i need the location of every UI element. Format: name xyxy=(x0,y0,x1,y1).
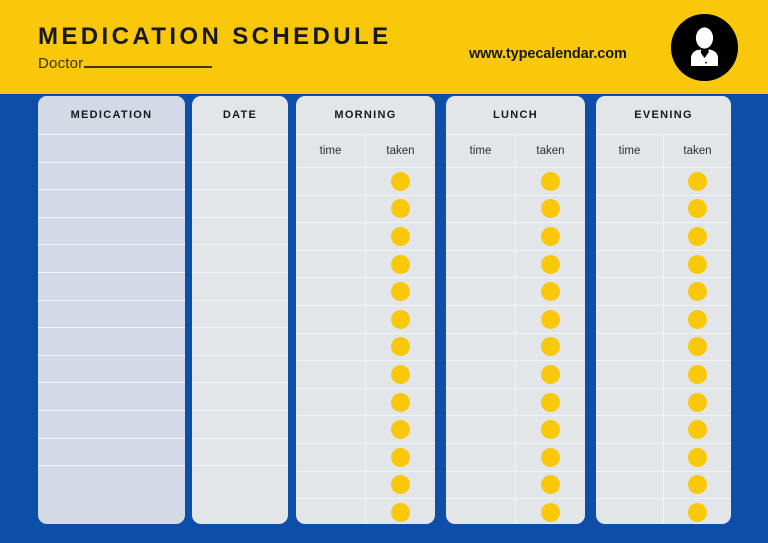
table-row[interactable] xyxy=(192,217,288,245)
column-header-morning: MORNING xyxy=(296,96,435,134)
column-header-date: DATE xyxy=(192,96,288,134)
taken-dot-icon[interactable] xyxy=(391,475,410,494)
morning-taken-cell[interactable] xyxy=(365,278,435,305)
table-row[interactable] xyxy=(596,195,731,223)
taken-dot-icon[interactable] xyxy=(391,365,410,384)
table-row[interactable] xyxy=(446,250,585,278)
medication-cell[interactable] xyxy=(38,411,185,438)
table-row[interactable] xyxy=(596,167,731,195)
medication-cell[interactable] xyxy=(38,135,185,162)
taken-dot-icon[interactable] xyxy=(688,227,707,246)
lunch-taken-cell[interactable] xyxy=(515,251,585,278)
lunch-time-cell[interactable] xyxy=(446,278,515,305)
table-row[interactable] xyxy=(296,167,435,195)
table-row[interactable] xyxy=(192,438,288,466)
column-morning: MORNING time taken xyxy=(296,96,435,524)
table-row[interactable] xyxy=(38,189,185,217)
evening-time-cell[interactable] xyxy=(596,416,663,443)
morning-taken-cell[interactable] xyxy=(365,499,435,524)
date-cell[interactable] xyxy=(192,273,288,300)
subheader-evening: time taken xyxy=(596,134,731,167)
morning-taken-cell[interactable] xyxy=(365,306,435,333)
taken-dot-icon[interactable] xyxy=(541,448,560,467)
evening-time-cell[interactable] xyxy=(596,306,663,333)
table-row[interactable] xyxy=(296,388,435,416)
evening-time-cell[interactable] xyxy=(596,499,663,524)
table-row[interactable] xyxy=(446,360,585,388)
morning-time-cell[interactable] xyxy=(296,251,365,278)
taken-dot-icon[interactable] xyxy=(688,448,707,467)
evening-taken-cell[interactable] xyxy=(663,196,731,223)
table-row[interactable] xyxy=(596,277,731,305)
page-title: MEDICATION SCHEDULE xyxy=(38,24,392,49)
table-row[interactable] xyxy=(192,162,288,190)
lunch-taken-cell[interactable] xyxy=(515,416,585,443)
evening-time-cell[interactable] xyxy=(596,168,663,195)
table-row[interactable] xyxy=(192,327,288,355)
evening-taken-cell[interactable] xyxy=(663,278,731,305)
lunch-rows xyxy=(446,167,585,524)
morning-taken-cell[interactable] xyxy=(365,251,435,278)
table-row[interactable] xyxy=(192,355,288,383)
table-row[interactable] xyxy=(38,244,185,272)
morning-taken-cell[interactable] xyxy=(365,334,435,361)
morning-time-cell[interactable] xyxy=(296,278,365,305)
subheader-morning-time: time xyxy=(296,135,365,167)
medication-cell[interactable] xyxy=(38,356,185,383)
table-row[interactable] xyxy=(296,277,435,305)
taken-dot-icon[interactable] xyxy=(391,172,410,191)
lunch-time-cell[interactable] xyxy=(446,196,515,223)
column-evening: EVENING time taken xyxy=(596,96,731,524)
medication-schedule-page: MEDICATION SCHEDULE Doctor www.typecalen… xyxy=(0,0,768,543)
taken-dot-icon[interactable] xyxy=(541,199,560,218)
table-row[interactable] xyxy=(38,355,185,383)
medication-cell[interactable] xyxy=(38,163,185,190)
taken-dot-icon[interactable] xyxy=(391,227,410,246)
title-block: MEDICATION SCHEDULE Doctor xyxy=(38,24,392,72)
lunch-taken-cell[interactable] xyxy=(515,223,585,250)
morning-time-cell[interactable] xyxy=(296,389,365,416)
morning-taken-cell[interactable] xyxy=(365,223,435,250)
evening-taken-cell[interactable] xyxy=(663,444,731,471)
taken-dot-icon[interactable] xyxy=(541,420,560,439)
taken-dot-icon[interactable] xyxy=(391,255,410,274)
table-row[interactable] xyxy=(192,382,288,410)
evening-time-cell[interactable] xyxy=(596,472,663,499)
subheader-lunch: time taken xyxy=(446,134,585,167)
evening-time-cell[interactable] xyxy=(596,444,663,471)
table-row[interactable] xyxy=(446,195,585,223)
taken-dot-icon[interactable] xyxy=(541,282,560,301)
lunch-time-cell[interactable] xyxy=(446,251,515,278)
medication-rows xyxy=(38,134,185,493)
table-row[interactable] xyxy=(38,217,185,245)
morning-taken-cell[interactable] xyxy=(365,168,435,195)
medication-cell[interactable] xyxy=(38,383,185,410)
table-row[interactable] xyxy=(446,415,585,443)
table-row[interactable] xyxy=(192,134,288,162)
table-row[interactable] xyxy=(38,382,185,410)
date-cell[interactable] xyxy=(192,135,288,162)
lunch-taken-cell[interactable] xyxy=(515,499,585,524)
morning-time-cell[interactable] xyxy=(296,499,365,524)
lunch-time-cell[interactable] xyxy=(446,444,515,471)
evening-taken-cell[interactable] xyxy=(663,334,731,361)
morning-time-cell[interactable] xyxy=(296,168,365,195)
table-row[interactable] xyxy=(446,471,585,499)
column-header-lunch: LUNCH xyxy=(446,96,585,134)
evening-time-cell[interactable] xyxy=(596,278,663,305)
taken-dot-icon[interactable] xyxy=(541,365,560,384)
morning-time-cell[interactable] xyxy=(296,306,365,333)
table-row[interactable] xyxy=(38,438,185,466)
doctor-field[interactable]: Doctor xyxy=(38,55,392,72)
table-row[interactable] xyxy=(596,471,731,499)
table-row[interactable] xyxy=(296,443,435,471)
evening-time-cell[interactable] xyxy=(596,361,663,388)
table-row[interactable] xyxy=(596,250,731,278)
table-row[interactable] xyxy=(38,272,185,300)
lunch-time-cell[interactable] xyxy=(446,416,515,443)
table-row[interactable] xyxy=(38,410,185,438)
medication-cell[interactable] xyxy=(38,245,185,272)
evening-taken-cell[interactable] xyxy=(663,223,731,250)
doctor-label: Doctor xyxy=(38,55,83,72)
date-cell[interactable] xyxy=(192,218,288,245)
taken-dot-icon[interactable] xyxy=(541,475,560,494)
taken-dot-icon[interactable] xyxy=(541,503,560,522)
table-row[interactable] xyxy=(38,134,185,162)
lunch-taken-cell[interactable] xyxy=(515,334,585,361)
table-row[interactable] xyxy=(596,498,731,524)
taken-dot-icon[interactable] xyxy=(688,310,707,329)
taken-dot-icon[interactable] xyxy=(688,393,707,412)
taken-dot-icon[interactable] xyxy=(391,337,410,356)
table-row[interactable] xyxy=(446,305,585,333)
evening-taken-cell[interactable] xyxy=(663,361,731,388)
table-row[interactable] xyxy=(596,305,731,333)
lunch-time-cell[interactable] xyxy=(446,306,515,333)
subheader-lunch-taken: taken xyxy=(515,135,585,167)
lunch-time-cell[interactable] xyxy=(446,168,515,195)
doctor-avatar-icon xyxy=(671,14,738,81)
table-row[interactable] xyxy=(192,272,288,300)
table-row[interactable] xyxy=(596,360,731,388)
morning-taken-cell[interactable] xyxy=(365,472,435,499)
evening-taken-cell[interactable] xyxy=(663,472,731,499)
column-header-medication: MEDICATION xyxy=(38,96,185,134)
table-row[interactable] xyxy=(296,250,435,278)
taken-dot-icon[interactable] xyxy=(688,503,707,522)
morning-rows xyxy=(296,167,435,524)
morning-time-cell[interactable] xyxy=(296,444,365,471)
morning-time-cell[interactable] xyxy=(296,361,365,388)
taken-dot-icon[interactable] xyxy=(688,282,707,301)
column-lunch: LUNCH time taken xyxy=(446,96,585,524)
lunch-taken-cell[interactable] xyxy=(515,306,585,333)
taken-dot-icon[interactable] xyxy=(391,448,410,467)
table-row[interactable] xyxy=(596,333,731,361)
table-row[interactable] xyxy=(296,222,435,250)
table-row[interactable] xyxy=(446,388,585,416)
taken-dot-icon[interactable] xyxy=(391,199,410,218)
table-row[interactable] xyxy=(296,305,435,333)
medication-cell[interactable] xyxy=(38,190,185,217)
evening-taken-cell[interactable] xyxy=(663,306,731,333)
lunch-time-cell[interactable] xyxy=(446,223,515,250)
table-row[interactable] xyxy=(296,498,435,524)
table-row[interactable] xyxy=(596,443,731,471)
table-row[interactable] xyxy=(38,300,185,328)
table-row[interactable] xyxy=(446,222,585,250)
medication-cell[interactable] xyxy=(38,439,185,466)
lunch-taken-cell[interactable] xyxy=(515,278,585,305)
date-cell[interactable] xyxy=(192,439,288,466)
date-cell[interactable] xyxy=(192,190,288,217)
evening-taken-cell[interactable] xyxy=(663,416,731,443)
table-row[interactable] xyxy=(192,465,288,493)
morning-time-cell[interactable] xyxy=(296,223,365,250)
evening-time-cell[interactable] xyxy=(596,196,663,223)
table-row[interactable] xyxy=(192,244,288,272)
evening-rows xyxy=(596,167,731,524)
date-cell[interactable] xyxy=(192,466,288,493)
table-row[interactable] xyxy=(192,410,288,438)
date-cell[interactable] xyxy=(192,163,288,190)
evening-time-cell[interactable] xyxy=(596,389,663,416)
table-row[interactable] xyxy=(296,471,435,499)
taken-dot-icon[interactable] xyxy=(391,503,410,522)
subheader-morning-taken: taken xyxy=(365,135,435,167)
table-row[interactable] xyxy=(296,360,435,388)
subheader-evening-time: time xyxy=(596,135,663,167)
taken-dot-icon[interactable] xyxy=(541,310,560,329)
date-cell[interactable] xyxy=(192,356,288,383)
table-row[interactable] xyxy=(446,277,585,305)
taken-dot-icon[interactable] xyxy=(391,420,410,439)
morning-taken-cell[interactable] xyxy=(365,444,435,471)
lunch-taken-cell[interactable] xyxy=(515,472,585,499)
table-row[interactable] xyxy=(192,300,288,328)
table-row[interactable] xyxy=(38,327,185,355)
date-cell[interactable] xyxy=(192,245,288,272)
evening-time-cell[interactable] xyxy=(596,251,663,278)
table-row[interactable] xyxy=(446,498,585,524)
table-row[interactable] xyxy=(192,189,288,217)
taken-dot-icon[interactable] xyxy=(541,172,560,191)
column-date: DATE xyxy=(192,96,288,524)
doctor-avatar-svg xyxy=(671,14,738,81)
table-row[interactable] xyxy=(446,167,585,195)
taken-dot-icon[interactable] xyxy=(541,393,560,412)
taken-dot-icon[interactable] xyxy=(541,337,560,356)
taken-dot-icon[interactable] xyxy=(688,475,707,494)
medication-cell[interactable] xyxy=(38,328,185,355)
medication-cell[interactable] xyxy=(38,466,185,493)
subheader-morning: time taken xyxy=(296,134,435,167)
evening-time-cell[interactable] xyxy=(596,334,663,361)
morning-taken-cell[interactable] xyxy=(365,361,435,388)
table-row[interactable] xyxy=(38,465,185,493)
medication-cell[interactable] xyxy=(38,301,185,328)
medication-cell[interactable] xyxy=(38,218,185,245)
lunch-taken-cell[interactable] xyxy=(515,444,585,471)
evening-taken-cell[interactable] xyxy=(663,168,731,195)
lunch-taken-cell[interactable] xyxy=(515,361,585,388)
header-band: MEDICATION SCHEDULE Doctor www.typecalen… xyxy=(0,0,768,94)
table-row[interactable] xyxy=(446,333,585,361)
taken-dot-icon[interactable] xyxy=(688,365,707,384)
table-row[interactable] xyxy=(296,415,435,443)
lunch-taken-cell[interactable] xyxy=(515,168,585,195)
evening-taken-cell[interactable] xyxy=(663,251,731,278)
date-cell[interactable] xyxy=(192,383,288,410)
lunch-time-cell[interactable] xyxy=(446,334,515,361)
date-cell[interactable] xyxy=(192,328,288,355)
column-header-evening: EVENING xyxy=(596,96,731,134)
table-row[interactable] xyxy=(446,443,585,471)
taken-dot-icon[interactable] xyxy=(391,393,410,412)
morning-taken-cell[interactable] xyxy=(365,389,435,416)
date-cell[interactable] xyxy=(192,411,288,438)
schedule-table: MEDICATION DATE MORNING time taken LUNCH… xyxy=(0,94,768,543)
taken-dot-icon[interactable] xyxy=(391,310,410,329)
table-row[interactable] xyxy=(596,222,731,250)
table-row[interactable] xyxy=(38,162,185,190)
taken-dot-icon[interactable] xyxy=(688,337,707,356)
date-rows xyxy=(192,134,288,493)
evening-taken-cell[interactable] xyxy=(663,499,731,524)
taken-dot-icon[interactable] xyxy=(688,255,707,274)
morning-taken-cell[interactable] xyxy=(365,196,435,223)
subheader-lunch-time: time xyxy=(446,135,515,167)
table-row[interactable] xyxy=(596,388,731,416)
taken-dot-icon[interactable] xyxy=(688,420,707,439)
evening-taken-cell[interactable] xyxy=(663,389,731,416)
doctor-input-blank[interactable] xyxy=(84,55,212,68)
website-url: www.typecalendar.com xyxy=(469,46,627,62)
taken-dot-icon[interactable] xyxy=(688,172,707,191)
table-row[interactable] xyxy=(596,415,731,443)
table-row[interactable] xyxy=(296,195,435,223)
column-medication: MEDICATION xyxy=(38,96,185,524)
lunch-time-cell[interactable] xyxy=(446,499,515,524)
taken-dot-icon[interactable] xyxy=(541,227,560,246)
evening-time-cell[interactable] xyxy=(596,223,663,250)
taken-dot-icon[interactable] xyxy=(391,282,410,301)
lunch-time-cell[interactable] xyxy=(446,472,515,499)
table-row[interactable] xyxy=(296,333,435,361)
lunch-time-cell[interactable] xyxy=(446,389,515,416)
subheader-evening-taken: taken xyxy=(663,135,731,167)
taken-dot-icon[interactable] xyxy=(541,255,560,274)
medication-cell[interactable] xyxy=(38,273,185,300)
lunch-taken-cell[interactable] xyxy=(515,389,585,416)
morning-taken-cell[interactable] xyxy=(365,416,435,443)
lunch-taken-cell[interactable] xyxy=(515,196,585,223)
taken-dot-icon[interactable] xyxy=(688,199,707,218)
morning-time-cell[interactable] xyxy=(296,196,365,223)
morning-time-cell[interactable] xyxy=(296,416,365,443)
morning-time-cell[interactable] xyxy=(296,334,365,361)
date-cell[interactable] xyxy=(192,301,288,328)
morning-time-cell[interactable] xyxy=(296,472,365,499)
lunch-time-cell[interactable] xyxy=(446,361,515,388)
